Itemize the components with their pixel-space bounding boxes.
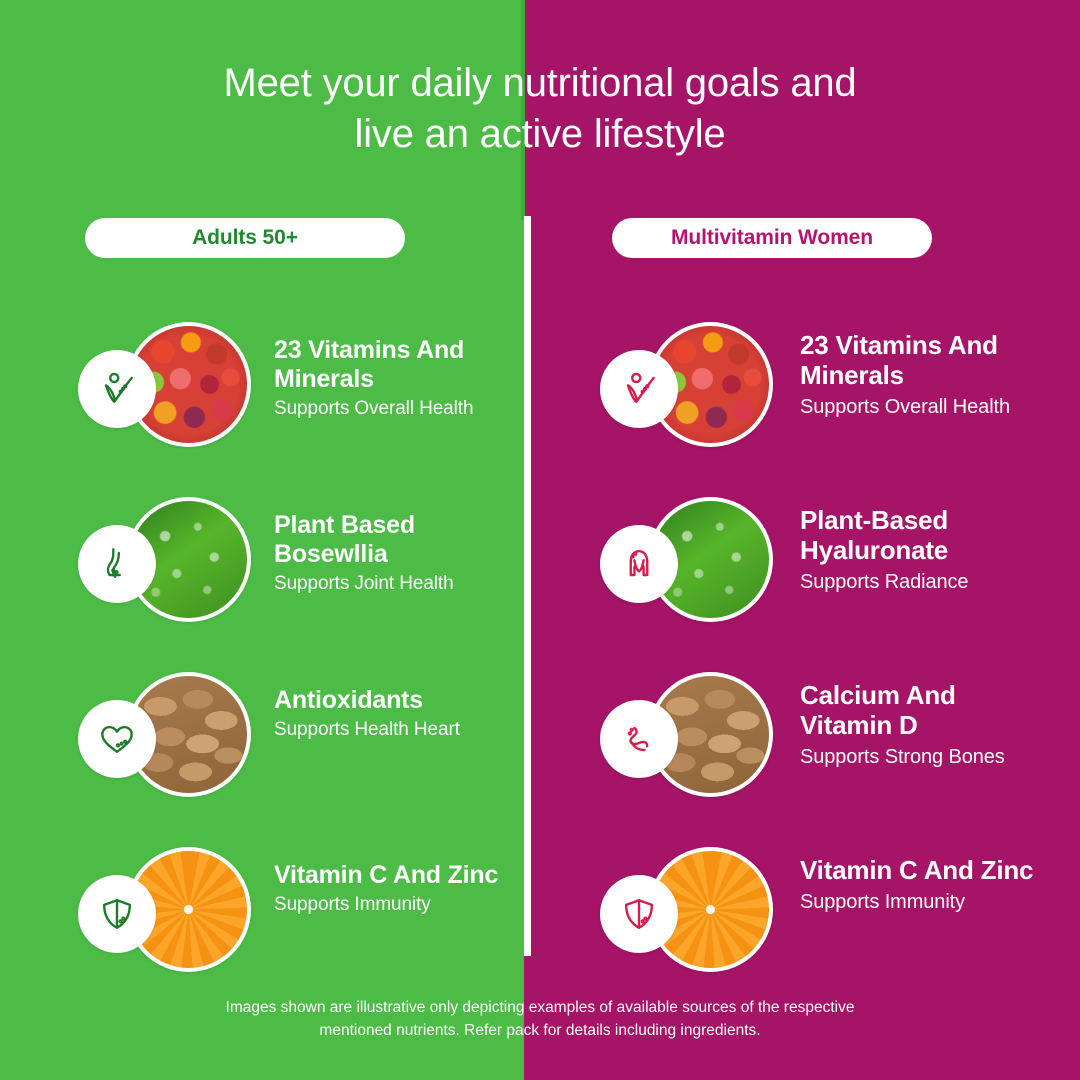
- feature-subtitle: Supports Immunity: [800, 889, 1050, 915]
- knee-joint-icon: [78, 525, 156, 603]
- feature-item: Plant Based Bosewllia Supports Joint Hea…: [78, 497, 518, 672]
- feature-subtitle: Supports Overall Health: [274, 397, 518, 422]
- footer-disclaimer: Images shown are illustrative only depic…: [0, 997, 1080, 1042]
- feature-text: 23 Vitamins And Minerals Supports Overal…: [274, 336, 518, 422]
- feature-list-adults-50-plus: 23 Vitamins And Minerals Supports Overal…: [78, 322, 518, 1022]
- page-headline: Meet your daily nutritional goals and li…: [0, 58, 1080, 160]
- pill-multivitamin-women[interactable]: Multivitamin Women: [612, 218, 932, 258]
- bone-joint-icon: [600, 700, 678, 778]
- person-check-icon: [600, 350, 678, 428]
- pill-label-right: Multivitamin Women: [671, 226, 873, 250]
- shield-icon: [600, 875, 678, 953]
- feature-item: Vitamin C And Zinc Supports Immunity: [78, 847, 518, 1022]
- panel-divider: [524, 216, 531, 956]
- shield-icon: [78, 875, 156, 953]
- feature-item: Plant-Based Hyaluronate Supports Radianc…: [600, 497, 1050, 672]
- feature-subtitle: Supports Joint Health: [274, 572, 518, 597]
- feature-list-multivitamin-women: 23 Vitamins And Minerals Supports Overal…: [600, 322, 1050, 1022]
- feature-subtitle: Supports Overall Health: [800, 394, 1050, 420]
- feature-title: 23 Vitamins And Minerals: [274, 336, 518, 394]
- heart-icon: [78, 700, 156, 778]
- feature-subtitle: Supports Strong Bones: [800, 744, 1050, 770]
- feature-subtitle: Supports Immunity: [274, 893, 518, 918]
- headline-line-2: live an active lifestyle: [0, 109, 1080, 160]
- feature-item: 23 Vitamins And Minerals Supports Overal…: [78, 322, 518, 497]
- feature-title: Antioxidants: [274, 686, 518, 715]
- feature-subtitle: Supports Radiance: [800, 569, 1050, 595]
- feature-text: Calcium And Vitamin D Supports Strong Bo…: [800, 680, 1050, 770]
- feature-item: 23 Vitamins And Minerals Supports Overal…: [600, 322, 1050, 497]
- person-check-icon: [78, 350, 156, 428]
- feature-text: Plant Based Bosewllia Supports Joint Hea…: [274, 511, 518, 597]
- feature-title: 23 Vitamins And Minerals: [800, 330, 1050, 390]
- feature-text: Antioxidants Supports Health Heart: [274, 686, 518, 743]
- feature-title: Calcium And Vitamin D: [800, 680, 1050, 740]
- feature-text: 23 Vitamins And Minerals Supports Overal…: [800, 330, 1050, 420]
- headline-line-1: Meet your daily nutritional goals and: [224, 61, 857, 105]
- feature-title: Vitamin C And Zinc: [274, 861, 518, 890]
- footer-line-2: mentioned nutrients. Refer pack for deta…: [0, 1020, 1080, 1042]
- feature-title: Vitamin C And Zinc: [800, 855, 1050, 885]
- feature-text: Vitamin C And Zinc Supports Immunity: [274, 861, 518, 918]
- feature-title: Plant Based Bosewllia: [274, 511, 518, 569]
- feature-item: Vitamin C And Zinc Supports Immunity: [600, 847, 1050, 1022]
- feature-text: Vitamin C And Zinc Supports Immunity: [800, 855, 1050, 915]
- footer-line-1: Images shown are illustrative only depic…: [0, 997, 1080, 1019]
- pill-label-left: Adults 50+: [192, 226, 298, 250]
- feature-item: Antioxidants Supports Health Heart: [78, 672, 518, 847]
- feature-item: Calcium And Vitamin D Supports Strong Bo…: [600, 672, 1050, 847]
- feature-subtitle: Supports Health Heart: [274, 718, 518, 743]
- feature-text: Plant-Based Hyaluronate Supports Radianc…: [800, 505, 1050, 595]
- pill-adults-50-plus[interactable]: Adults 50+: [85, 218, 405, 258]
- feature-title: Plant-Based Hyaluronate: [800, 505, 1050, 565]
- woman-face-icon: [600, 525, 678, 603]
